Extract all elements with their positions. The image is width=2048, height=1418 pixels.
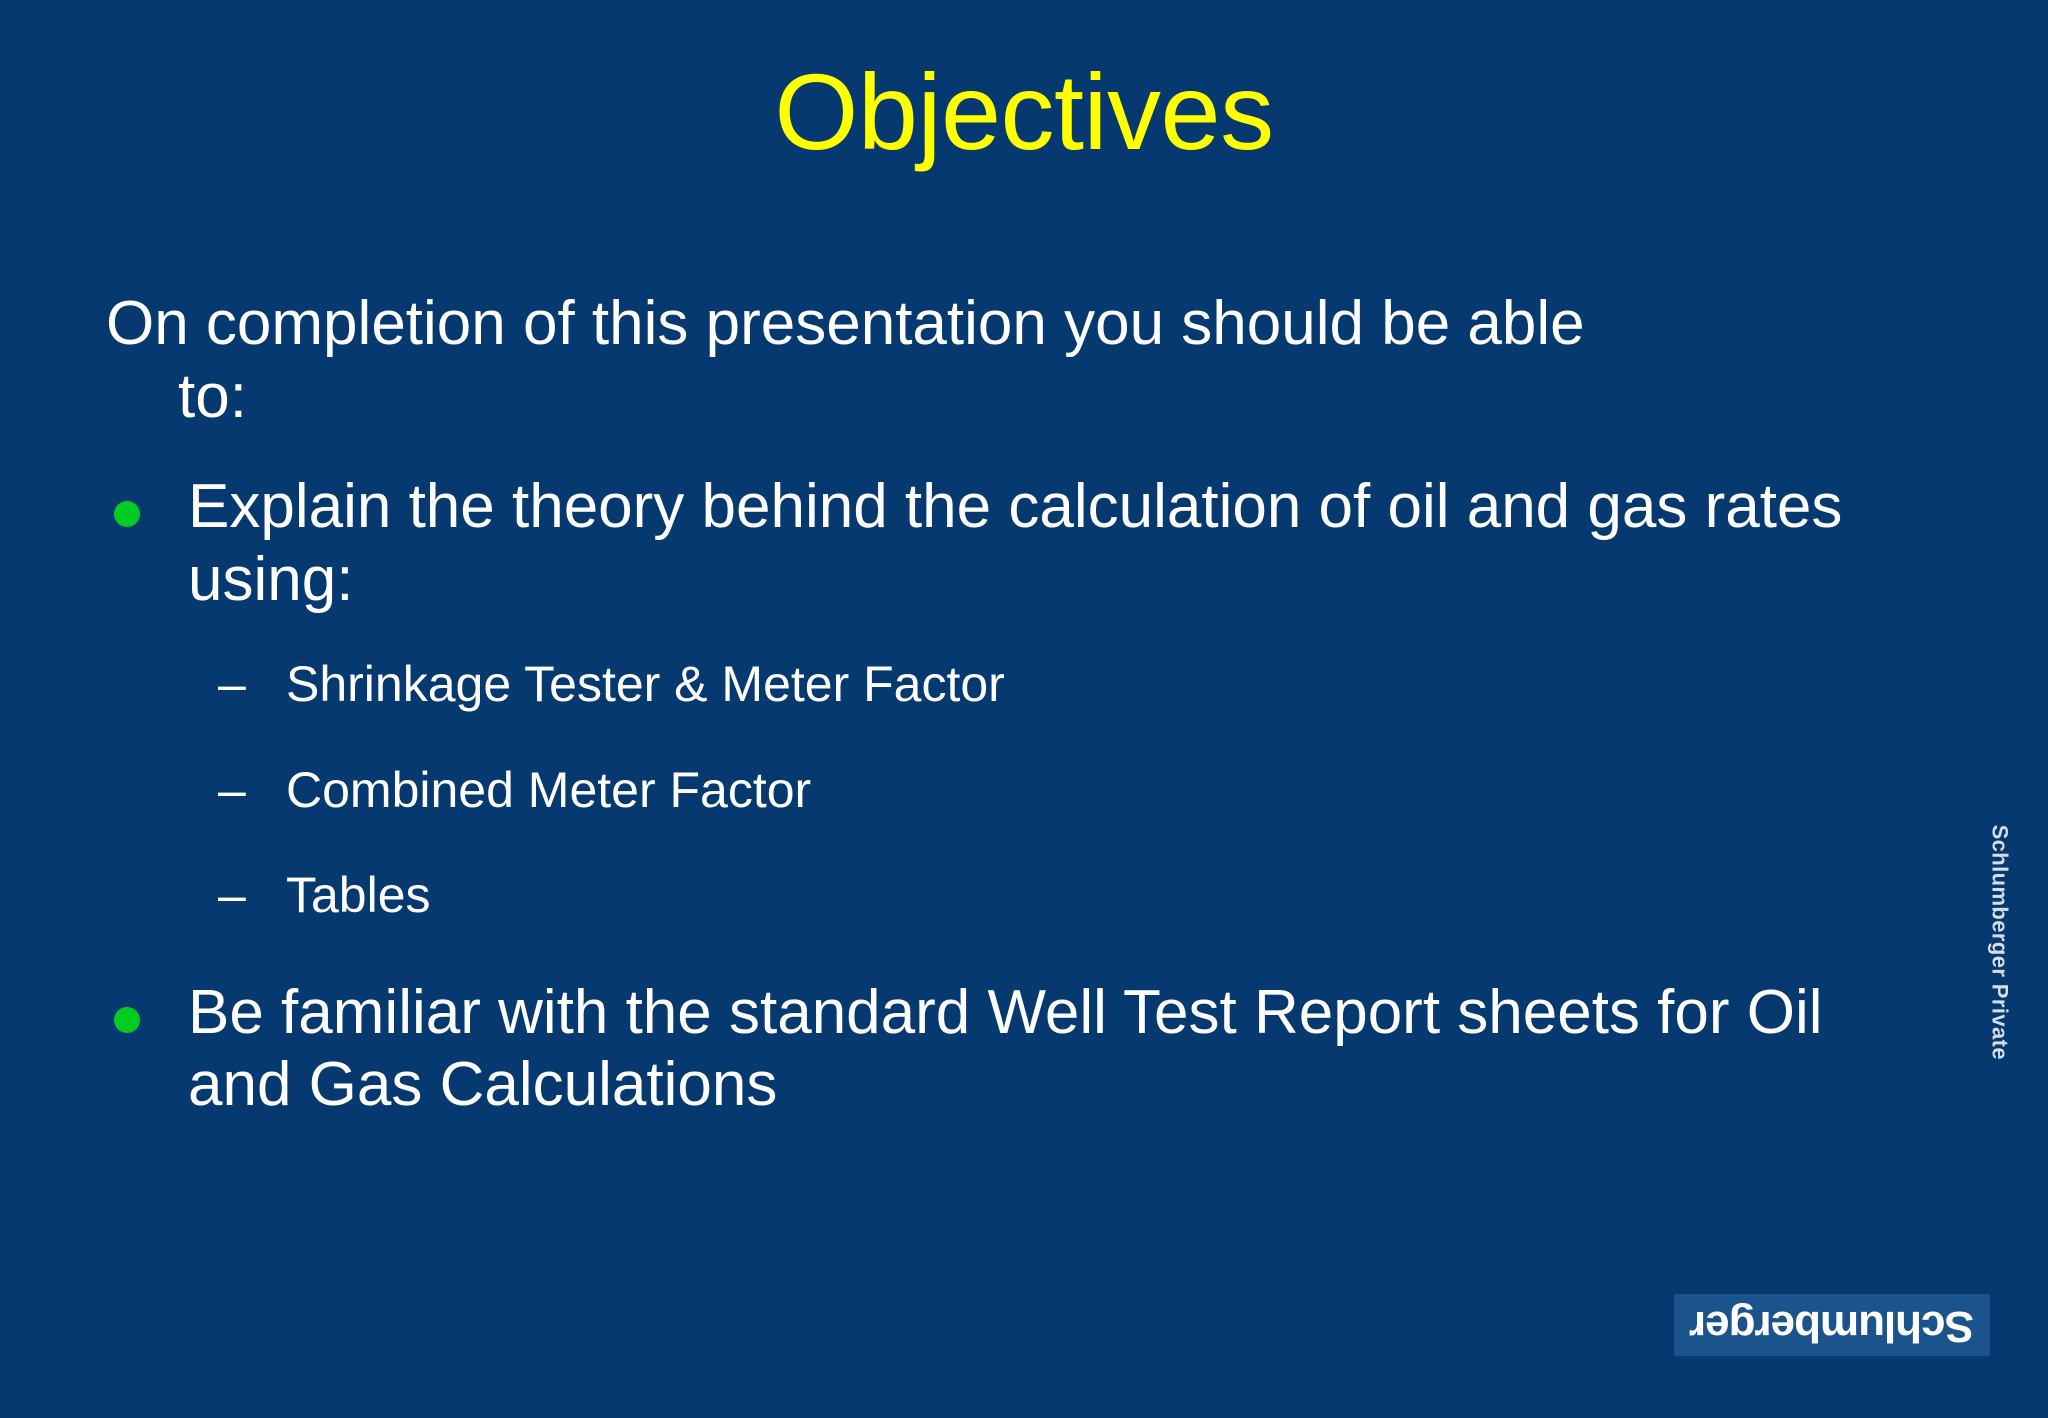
dash-marker-icon: – xyxy=(218,752,286,830)
sub-bullet-text: Tables xyxy=(286,857,1956,935)
lead-paragraph: On completion of this presentation you s… xyxy=(96,288,1936,433)
spacer xyxy=(96,447,1956,471)
lead-line-1: On completion of this presentation you s… xyxy=(106,289,1585,358)
bullet-text: Be familiar with the standard Well Test … xyxy=(188,977,1956,1122)
slide-body: On completion of this presentation you s… xyxy=(96,288,1956,1128)
sub-bullet-text: Combined Meter Factor xyxy=(286,752,1956,830)
spacer xyxy=(96,939,1956,977)
page-title: Objectives xyxy=(0,55,2048,168)
bullet-text: Explain the theory behind the calculatio… xyxy=(188,471,1956,616)
bullet-dot-icon xyxy=(96,471,188,527)
list-item: Explain the theory behind the calculatio… xyxy=(96,471,1956,616)
list-item: – Shrinkage Tester & Meter Factor xyxy=(96,646,1956,724)
slide-canvas: Objectives On completion of this present… xyxy=(0,0,2048,1418)
list-item: – Tables xyxy=(96,857,1956,935)
spacer xyxy=(96,622,1956,646)
sub-bullet-text: Shrinkage Tester & Meter Factor xyxy=(286,646,1956,724)
lead-line-2: to: xyxy=(106,361,1936,434)
company-logo-text: Schlumberger xyxy=(1690,1304,1974,1348)
list-item: Be familiar with the standard Well Test … xyxy=(96,977,1956,1122)
dash-marker-icon: – xyxy=(218,646,286,724)
spacer xyxy=(96,728,1956,752)
spacer xyxy=(96,833,1956,857)
dash-marker-icon: – xyxy=(218,857,286,935)
company-logo: Schlumberger xyxy=(1674,1294,1990,1356)
list-item: – Combined Meter Factor xyxy=(96,752,1956,830)
confidentiality-watermark: Schlumberger Private xyxy=(1986,825,2012,1060)
bullet-dot-icon xyxy=(96,977,188,1033)
